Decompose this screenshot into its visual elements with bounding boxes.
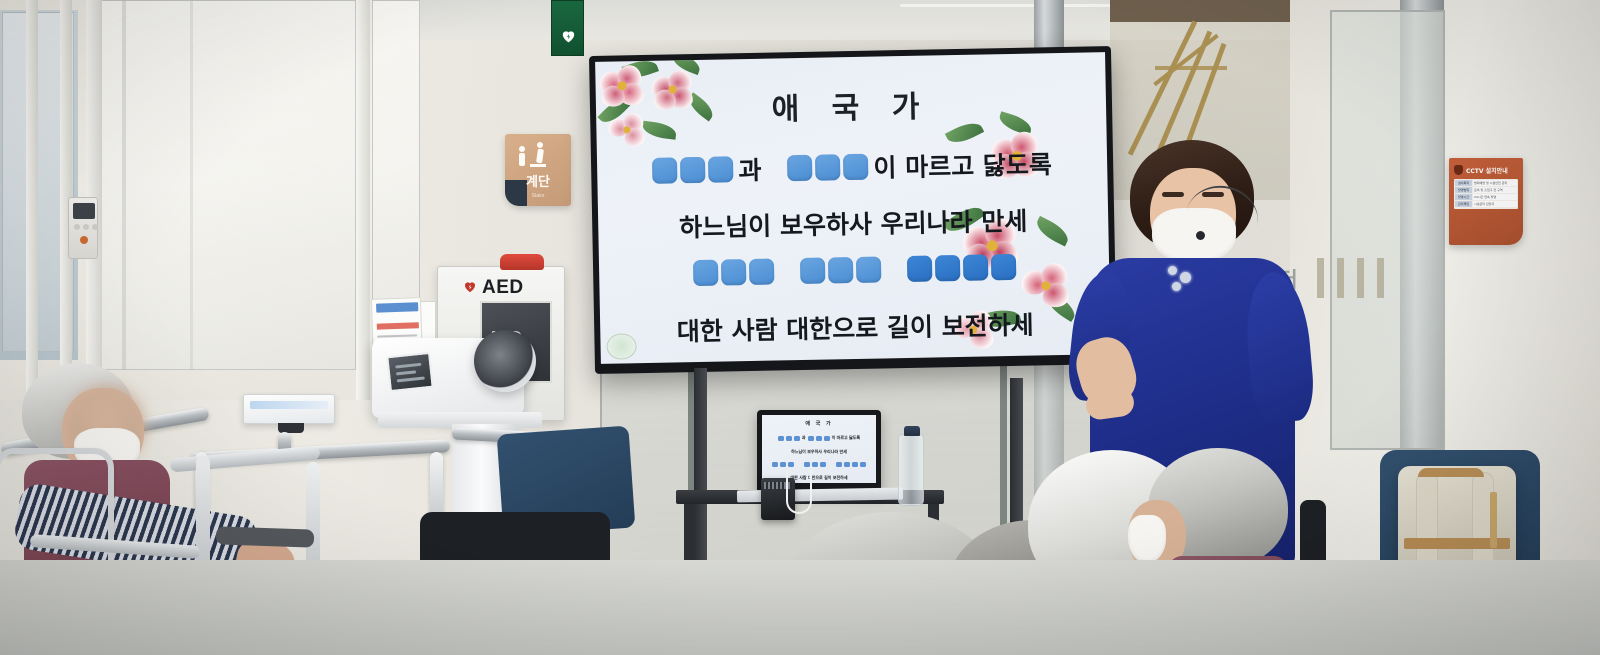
- aed-alarm-lamp: [500, 254, 544, 270]
- instruction-card-warning: [377, 322, 419, 329]
- instructor-brooch: [1172, 282, 1181, 291]
- audience-member-mask: [1128, 515, 1166, 563]
- blank-box: [906, 256, 931, 282]
- blank-box: [934, 255, 959, 281]
- laptop-slide-title: 애 국 가: [762, 420, 876, 427]
- blood-pressure-arm-cuff[interactable]: [474, 330, 536, 392]
- cctv-row-value: 24시간 연속 촬영: [1473, 194, 1517, 200]
- stairs-sign-label: 계단: [505, 171, 571, 190]
- slide-lyric-line-2: 하느님이 보우하사 우리나라 만세: [598, 200, 1109, 246]
- stairs-pictogram-icon: [537, 142, 543, 148]
- window-pane: [100, 0, 356, 370]
- digital-scale[interactable]: [243, 394, 335, 424]
- laptop-slide-line-3: [762, 462, 876, 467]
- cctv-row-key: 설치목적: [1455, 180, 1472, 186]
- wall-decoration-bar: [1317, 258, 1324, 298]
- blank-box: [652, 157, 677, 183]
- cctv-row-value: 로비 및 출입구 전 구역: [1473, 187, 1517, 193]
- blank-box: [720, 259, 745, 285]
- stairs-pictogram-icon: [519, 146, 525, 152]
- cctv-row-key: 촬영범위: [1455, 187, 1472, 193]
- laptop-lyric-text: 하느님이 보우하사 우리나라 만세: [791, 449, 847, 455]
- table-row: 관리책임 시설관리 담당자: [1455, 201, 1517, 207]
- floor: [0, 560, 1600, 655]
- headset-microphone-capsule: [1196, 231, 1205, 240]
- table-row: 촬영범위 로비 및 출입구 전 구역: [1455, 187, 1517, 193]
- backpack-zipper: [1490, 492, 1497, 548]
- laptop-screen: 애 국 가 과 이 마르고 닳도록 하느님이 보우하사 우리나라 만세 대한 사…: [762, 415, 876, 483]
- mic-cable: [786, 470, 812, 514]
- cctv-row-key: 관리책임: [1455, 201, 1472, 207]
- window-divider: [122, 0, 126, 370]
- slide-lyric-text: 과: [738, 151, 762, 187]
- blank-box: [748, 259, 773, 285]
- laptop-lyric-text: 과: [802, 435, 806, 441]
- slide-lyric-text: 대한 사람 대한으로 길이 보전하세: [677, 306, 1034, 349]
- window-divider: [190, 0, 193, 370]
- eco-label-icon: [606, 333, 636, 360]
- aed-heart-icon: [462, 279, 478, 294]
- stairs-step-icon: [530, 164, 546, 167]
- control-panel-button[interactable]: [92, 224, 98, 230]
- cctv-sign-header: CCTV 설치안내: [1454, 165, 1518, 175]
- cctv-sign-title: CCTV 설치안내: [1466, 166, 1508, 175]
- blank-box: [692, 260, 717, 286]
- slide-lyric-line-1: 과 이 마르고 닳도록: [597, 144, 1108, 190]
- stairs-pictogram-icon: [519, 153, 525, 166]
- backpack-handle: [1418, 468, 1484, 477]
- blank-group: [906, 254, 1015, 282]
- wall-decoration-bar: [1377, 258, 1384, 298]
- slide-title: 애 국 가: [596, 78, 1107, 132]
- wall-control-panel[interactable]: [68, 197, 98, 259]
- aed-heart-icon: [560, 27, 577, 45]
- table-row: 설치목적 범죄예방 및 시설안전 관리: [1455, 180, 1517, 186]
- wheelchair-grip[interactable]: [216, 526, 315, 547]
- blank-box: [708, 156, 733, 182]
- blank-box: [787, 155, 812, 181]
- bottle-cap: [904, 426, 920, 436]
- blank-group: [799, 256, 880, 284]
- slide-lyric-line-4: 대한 사람 대한으로 길이 보전하세: [600, 304, 1111, 350]
- blank-group: [692, 259, 773, 287]
- cctv-row-value: 범죄예방 및 시설안전 관리: [1473, 180, 1517, 186]
- window-mullion: [26, 0, 38, 400]
- laptop-lyric-text: 이 마르고 닳도록: [832, 435, 861, 441]
- blank-group: [652, 156, 733, 184]
- control-panel-button[interactable]: [74, 224, 80, 230]
- stairs-pictogram-icon: [536, 149, 544, 164]
- slide-lyric-text: 이 마르고 닳도록: [873, 145, 1052, 184]
- blank-box: [962, 254, 987, 280]
- blank-box: [855, 256, 880, 282]
- wall-decoration-bar: [1357, 258, 1364, 298]
- instruction-card-header: [376, 302, 418, 312]
- control-panel-display: [73, 203, 95, 219]
- shield-icon: [1454, 165, 1463, 175]
- instructor-brooch: [1168, 266, 1177, 275]
- laptop-slide-line-1: 과 이 마르고 닳도록: [762, 435, 876, 441]
- control-panel-button[interactable]: [83, 224, 89, 230]
- blank-box: [843, 154, 868, 180]
- emergency-aed-sign: [551, 0, 584, 56]
- slide-lyric-text: 하느님이 보우하사 우리나라 만세: [679, 202, 1028, 245]
- aed-cabinet-label: AED: [482, 277, 524, 299]
- window-mullion: [356, 0, 370, 400]
- stairs-sign-sublabel: Stairs: [505, 193, 571, 199]
- cctv-row-key: 촬영시간: [1455, 194, 1472, 200]
- table-row: 촬영시간 24시간 연속 촬영: [1455, 194, 1517, 200]
- water-bottle[interactable]: [898, 434, 924, 506]
- blank-box: [827, 257, 852, 283]
- scale-display: [250, 401, 328, 409]
- cctv-info-table: 설치목적 범죄예방 및 시설안전 관리 촬영범위 로비 및 출입구 전 구역 촬…: [1454, 179, 1518, 209]
- wall-decoration-bar: [1337, 258, 1344, 298]
- slide-lyric-line-3: [599, 252, 1109, 288]
- blood-pressure-display[interactable]: [386, 352, 434, 392]
- cctv-notice-sign: CCTV 설치안내 설치목적 범죄예방 및 시설안전 관리 촬영범위 로비 및 …: [1449, 158, 1523, 245]
- blank-group: [787, 154, 868, 182]
- blank-box: [680, 157, 705, 183]
- instructor-brooch: [1180, 272, 1191, 283]
- glass-door[interactable]: [1330, 10, 1445, 450]
- cctv-row-value: 시설관리 담당자: [1473, 201, 1517, 207]
- presentation-display: 애 국 가 과 이 마르고 닳도록 하느님이 보우하사 우리나라 만세: [589, 46, 1117, 374]
- photo-scene: 센터 CCTV 설치안내 설치목적 범죄예방 및 시설안전 관리 촬영범위 로비…: [0, 0, 1600, 655]
- stair-step-edge: [1155, 66, 1227, 70]
- blank-box: [799, 258, 824, 284]
- blank-box: [990, 254, 1015, 280]
- left-window-wall: [0, 0, 420, 400]
- laptop-slide-line-2: 하느님이 보우하사 우리나라 만세: [762, 449, 876, 455]
- blank-box: [815, 154, 840, 180]
- stairs-sign: 계단 Stairs: [505, 134, 571, 206]
- control-panel-emergency-button[interactable]: [80, 236, 88, 244]
- slide-screen: 애 국 가 과 이 마르고 닳도록 하느님이 보우하사 우리나라 만세: [595, 52, 1111, 364]
- instructor-eye: [1162, 192, 1184, 197]
